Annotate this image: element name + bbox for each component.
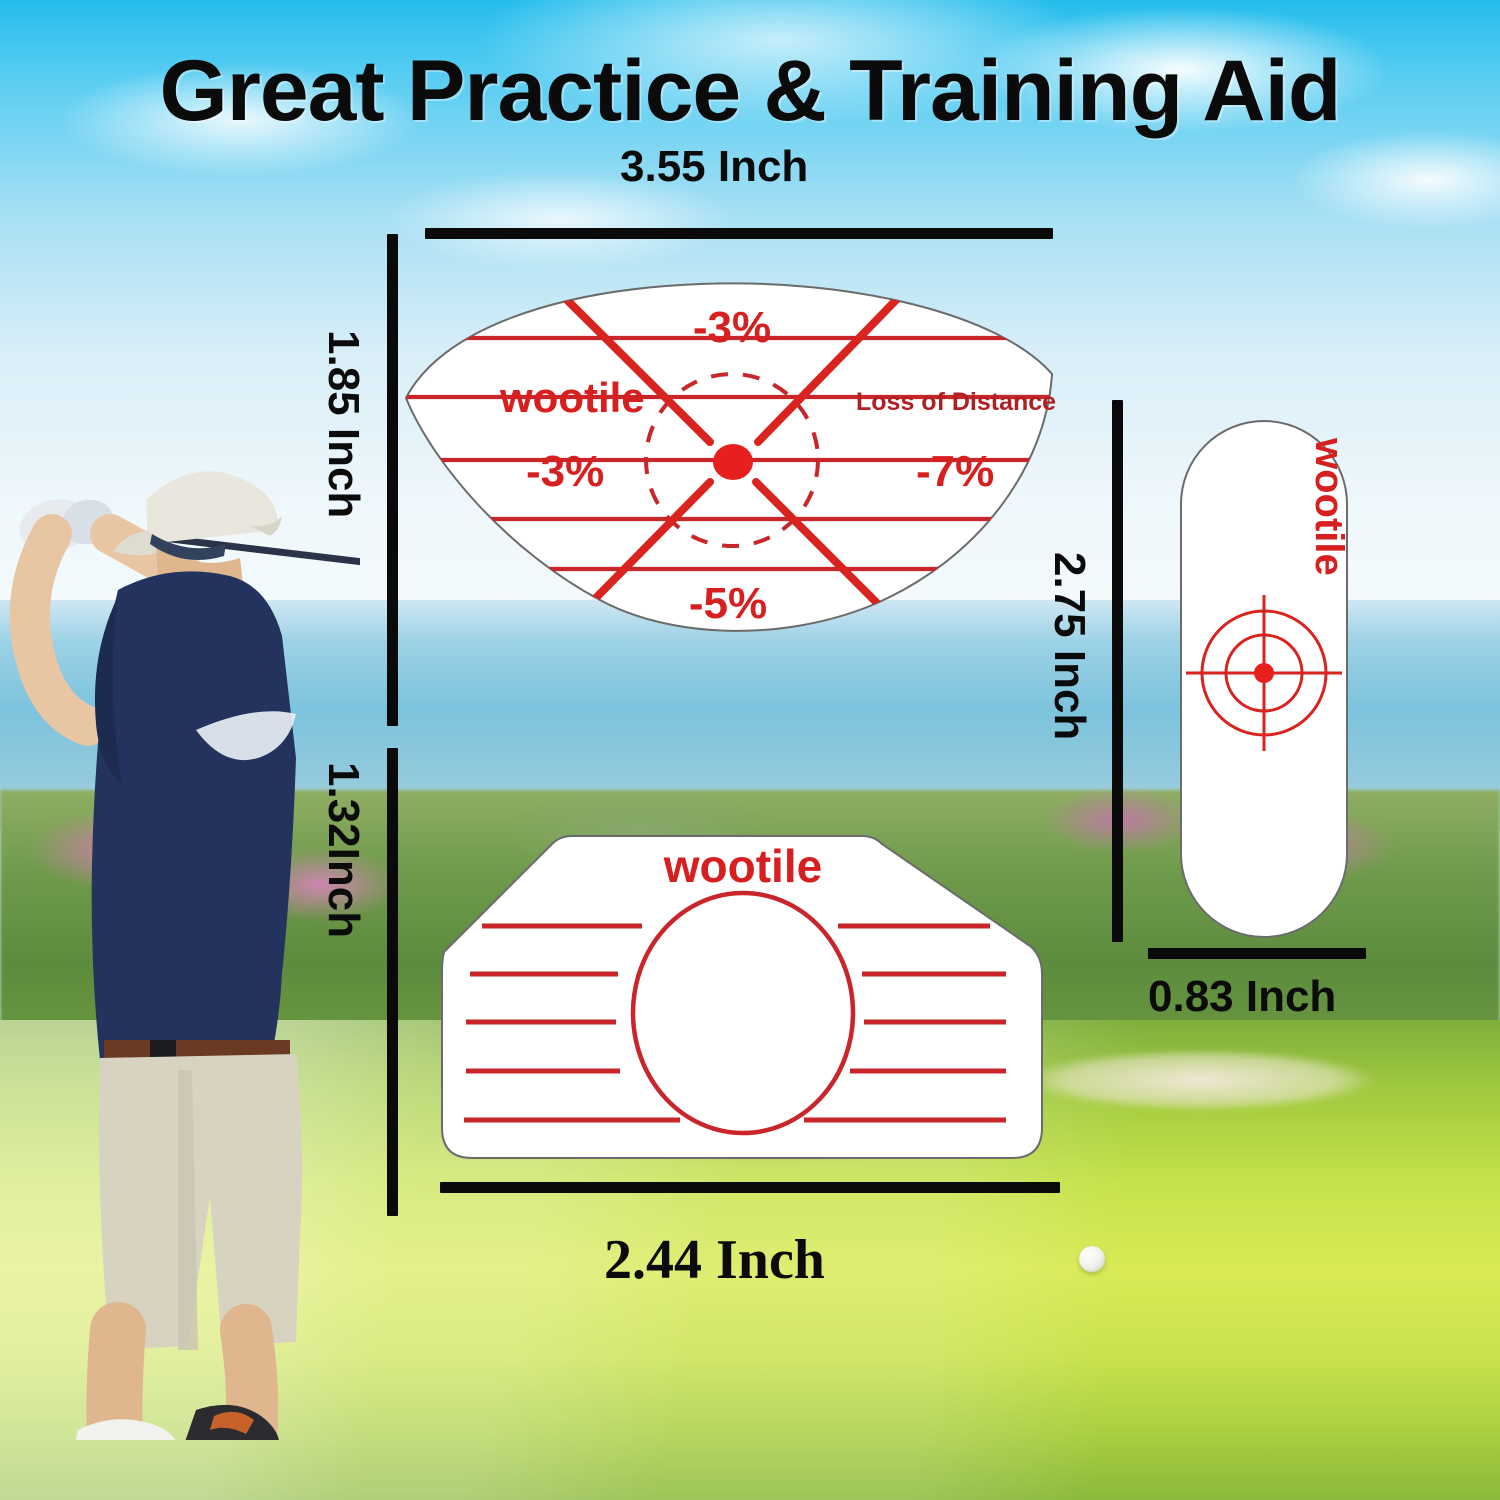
putter-brand-label: wootile <box>1307 437 1351 576</box>
iron-label-top: -3% <box>693 303 771 352</box>
dimension-bar-iron-height <box>387 234 398 726</box>
dimension-bar-putter-width <box>1148 948 1366 959</box>
dimension-bar-iron-width <box>425 228 1053 239</box>
golfer-mid-swing <box>0 430 360 1440</box>
iron-label-right: -7% <box>916 447 994 496</box>
dimension-label-iron-width: 3.55 Inch <box>620 142 808 192</box>
dimension-label-driver-height: 1.32Inch <box>318 762 368 938</box>
iron-loss-of-distance-label: Loss of Distance <box>856 388 1056 416</box>
infographic-canvas: Great Practice & Training Aid 3.55 Inch … <box>0 0 1500 1500</box>
dimension-bar-putter-height <box>1112 400 1123 942</box>
iron-brand-label: wootile <box>499 374 645 421</box>
dimension-bar-driver-height <box>387 748 398 1216</box>
putter-face-impact-sticker[interactable]: wootile <box>1178 418 1350 940</box>
golf-ball <box>1079 1246 1105 1272</box>
driver-face-impact-sticker[interactable]: wootile <box>430 828 1056 1176</box>
driver-brand-label: wootile <box>663 840 822 892</box>
iron-label-bottom: -5% <box>689 579 767 628</box>
iron-face-impact-sticker[interactable]: -3% wootile Loss of Distance -3% -7% -5% <box>400 270 1060 640</box>
iron-label-left: -3% <box>526 447 604 496</box>
crosshair-center-dot <box>1254 663 1274 683</box>
dimension-label-putter-width: 0.83 Inch <box>1148 972 1336 1022</box>
page-title: Great Practice & Training Aid <box>0 42 1500 141</box>
impact-center-dot <box>713 444 753 480</box>
dimension-label-driver-width: 2.44 Inch <box>604 1228 825 1292</box>
dimension-label-iron-height: 1.85 Inch <box>318 330 368 518</box>
dimension-bar-driver-width <box>440 1182 1060 1193</box>
